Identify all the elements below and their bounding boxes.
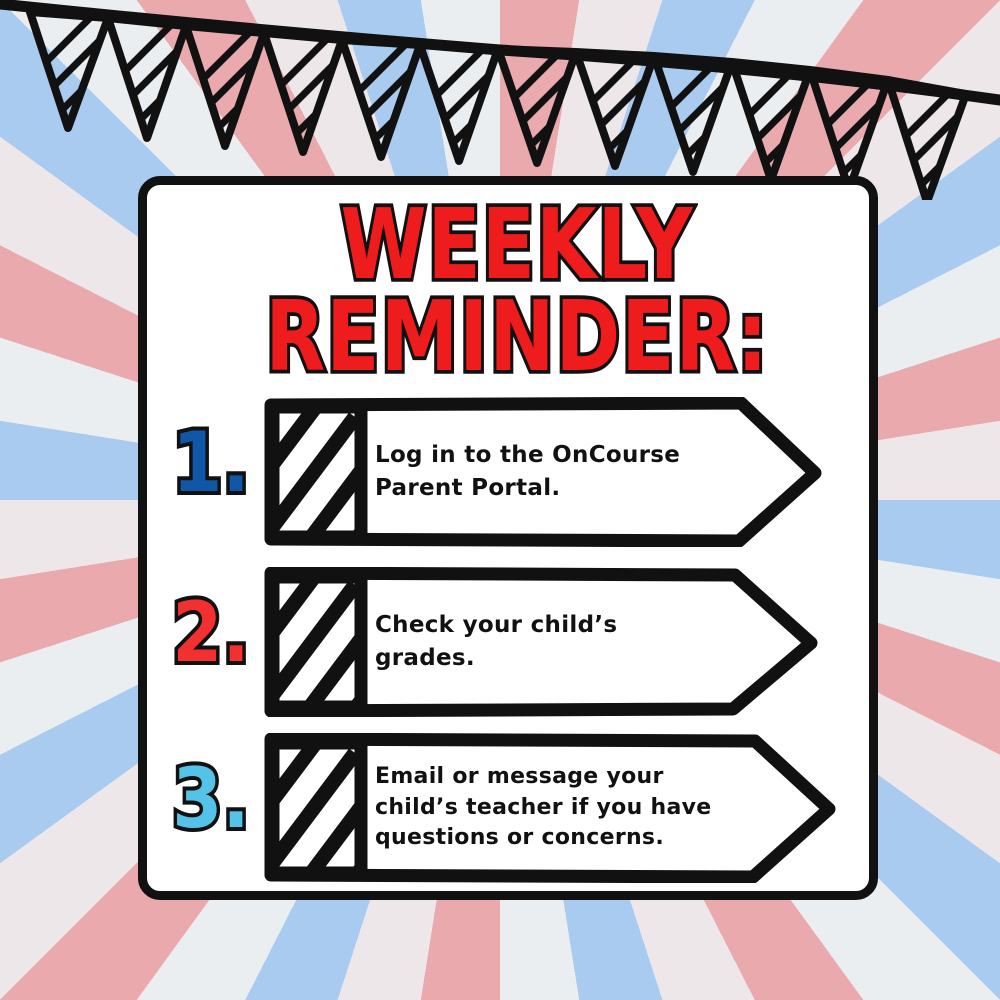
banner-line: Check your child’s	[375, 609, 795, 642]
reminder-card: WEEKLY REMINDER: 1.	[138, 176, 878, 900]
banner-arrow-3: Email or message your child’s teacher if…	[263, 733, 838, 883]
list-item: 3. Email or message your	[155, 733, 885, 883]
banner-line: Parent Portal.	[375, 472, 795, 505]
title-line-one: WEEKLY	[147, 199, 887, 292]
banner-text-3: Email or message your child’s teacher if…	[375, 733, 807, 883]
banner-line: questions or concerns.	[375, 823, 807, 853]
banner-arrow-1: Log in to the OnCourse Parent Portal.	[263, 397, 823, 547]
bunting-string	[0, 4, 1000, 100]
bunting-decoration	[0, 0, 1000, 200]
banner-line: Email or message your	[375, 762, 807, 792]
banner-arrow-2: Check your child’s grades.	[263, 567, 823, 717]
item-number-3: 3.	[163, 757, 259, 840]
item-number-1: 1.	[163, 421, 259, 504]
banner-line: Log in to the OnCourse	[375, 439, 795, 472]
banner-line: grades.	[375, 642, 795, 675]
page-title: WEEKLY REMINDER:	[147, 193, 887, 365]
title-line-two: REMINDER:	[147, 291, 887, 384]
banner-text-1: Log in to the OnCourse Parent Portal.	[375, 397, 795, 547]
list-item: 2. Check your child’s	[155, 567, 885, 717]
list-item: 1. Log in to the OnCourse	[155, 397, 885, 547]
banner-text-2: Check your child’s grades.	[375, 567, 795, 717]
item-number-2: 2.	[163, 591, 259, 674]
banner-line: child’s teacher if you have	[375, 793, 807, 823]
poster-stage: WEEKLY REMINDER: 1.	[0, 0, 1000, 1000]
